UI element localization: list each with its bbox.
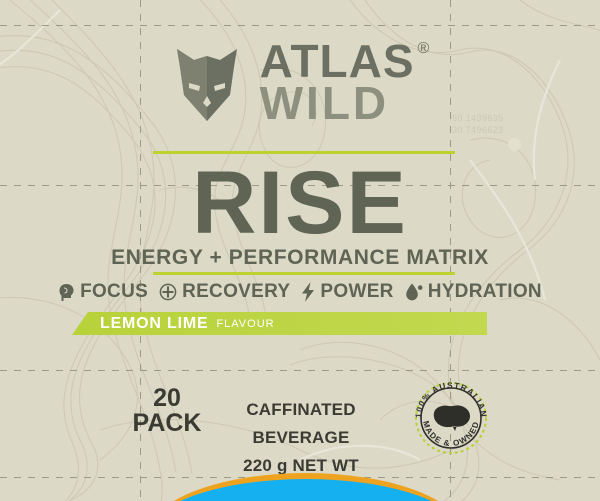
benefit-focus: FOCUS <box>58 281 148 303</box>
flavour-word: FLAVOUR <box>216 318 274 330</box>
flavour-banner: LEMON LIME FLAVOUR <box>72 312 487 335</box>
pack-count: 20 PACK <box>122 386 212 436</box>
product-label: 60.1439635 30.7496623 ATLAS ® WILD R <box>0 0 600 501</box>
benefit-label: FOCUS <box>80 281 148 303</box>
lime-rule-bottom <box>153 272 455 275</box>
benefit-label: RECOVERY <box>182 281 290 303</box>
brand-name-wild: WILD <box>260 82 431 124</box>
water-droplet-icon <box>405 282 423 302</box>
benefit-label: HYDRATION <box>428 281 542 303</box>
wolf-head-icon <box>170 43 244 121</box>
australian-made-badge: 100% AUSTRALIAN MADE & OWNED <box>412 379 490 457</box>
pack-count-word: PACK <box>122 411 212 436</box>
beverage-type: CAFFINATED BEVERAGE <box>206 396 396 452</box>
brain-head-icon <box>58 283 75 302</box>
pack-count-number: 20 <box>122 386 212 411</box>
australia-map-icon <box>434 405 470 431</box>
benefit-label: POWER <box>320 281 393 303</box>
product-tagline: ENERGY + PERFORMANCE MATRIX <box>0 246 600 270</box>
brand-lockup: ATLAS ® WILD <box>0 40 600 125</box>
brand-name-atlas: ATLAS <box>260 40 415 82</box>
product-description: CAFFINATED BEVERAGE 220 g NET WT <box>206 396 396 480</box>
benefit-recovery: RECOVERY <box>159 281 290 303</box>
lightning-bolt-icon <box>301 282 315 302</box>
product-name: RISE <box>0 158 600 247</box>
plus-circle-icon <box>159 283 177 301</box>
registered-trademark-icon: ® <box>418 42 431 57</box>
flavour-name: LEMON LIME <box>100 315 208 333</box>
benefit-hydration: HYDRATION <box>405 281 542 303</box>
benefits-row: FOCUS RECOVERY POWER HYDR <box>0 281 600 303</box>
benefit-power: POWER <box>301 281 393 303</box>
